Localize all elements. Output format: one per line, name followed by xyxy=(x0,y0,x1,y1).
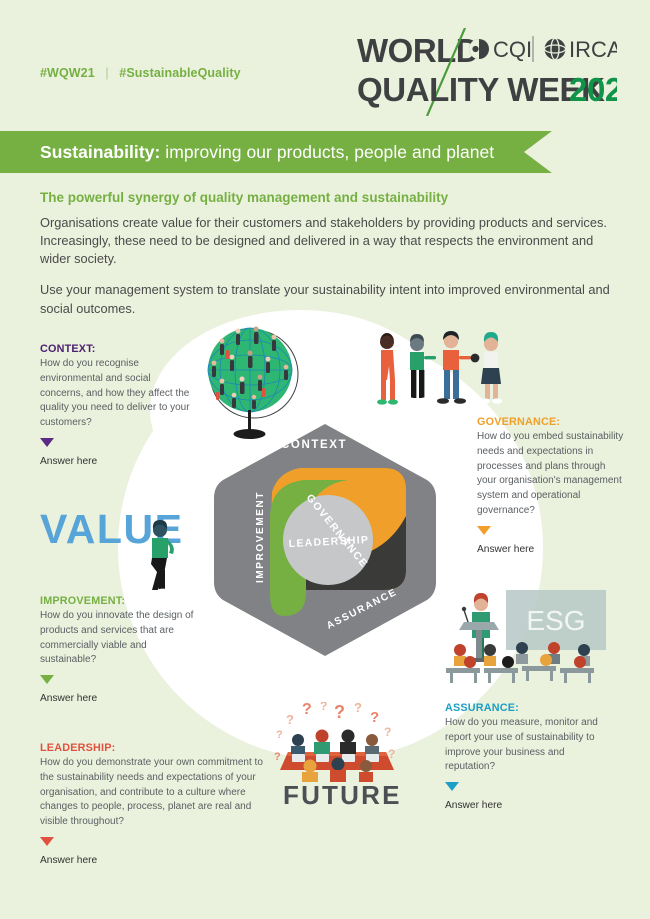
svg-text:?: ? xyxy=(286,712,294,727)
answer-field-governance[interactable]: Answer here xyxy=(477,544,627,555)
intro-paragraph-1: Organisations create value for their cus… xyxy=(40,214,612,268)
walking-people-illustration xyxy=(363,328,503,426)
logo-word-irca: IRCA xyxy=(569,37,617,62)
esg-presentation-illustration: ESG xyxy=(438,588,613,688)
intro-heading: The powerful synergy of quality manageme… xyxy=(40,190,612,205)
svg-text:?: ? xyxy=(320,702,327,713)
logo-word-cqi: CQI xyxy=(493,37,532,62)
meeting-questions-illustration: ? ? ? ? ? ? ? ? ? ? xyxy=(272,702,402,787)
hashtag-line: #WQW21 | #SustainableQuality xyxy=(40,66,241,80)
svg-text:?: ? xyxy=(334,702,345,722)
question-title-context: CONTEXT: xyxy=(40,343,192,355)
svg-text:?: ? xyxy=(274,751,281,763)
hashtag-wqw21[interactable]: #WQW21 xyxy=(40,66,95,80)
question-title-leadership: LEADERSHIP: xyxy=(40,742,272,754)
cqi-logo-icon xyxy=(469,39,489,59)
question-title-assurance: ASSURANCE: xyxy=(445,702,613,714)
question-text-assurance: How do you measure, monitor and report y… xyxy=(445,716,613,775)
question-title-governance: GOVERNANCE: xyxy=(477,416,627,428)
svg-text:?: ? xyxy=(388,747,395,761)
triangle-down-icon-context xyxy=(40,438,54,447)
wordmark-future: FUTURE xyxy=(283,780,402,811)
sustainability-hexagon-diagram: CONTEXT GOVERNANCE IMPROVEMENT ASSURANCE… xyxy=(208,420,442,660)
question-title-improvement: IMPROVEMENT: xyxy=(40,595,200,607)
hashtag-divider: | xyxy=(98,66,115,80)
irca-globe-icon xyxy=(545,39,566,60)
question-text-governance: How do you embed sustainability needs an… xyxy=(477,430,627,519)
logo-word-year: 2021 xyxy=(569,71,617,108)
svg-text:?: ? xyxy=(302,702,312,718)
question-block-assurance: ASSURANCE: How do you measure, monitor a… xyxy=(445,702,613,811)
svg-text:?: ? xyxy=(384,725,391,739)
logo-word-quality-week: QUALITY WEEK xyxy=(357,71,605,108)
answer-field-improvement[interactable]: Answer here xyxy=(40,693,200,704)
section-banner-text: Sustainability: improving our products, … xyxy=(0,142,494,163)
answer-field-context[interactable]: Answer here xyxy=(40,456,192,467)
logo-svg: WORLD CQI IRCA QUALITY WEEK 2021 xyxy=(357,28,617,116)
banner-title-rest: improving our products, people and plane… xyxy=(160,142,494,162)
question-block-improvement: IMPROVEMENT: How do you innovate the des… xyxy=(40,595,200,704)
world-quality-week-logo: WORLD CQI IRCA QUALITY WEEK 2021 xyxy=(357,28,617,116)
banner-title-bold: Sustainability: xyxy=(40,142,160,162)
question-text-context: How do you recognise environmental and s… xyxy=(40,357,192,431)
question-text-leadership: How do you demonstrate your own commitme… xyxy=(40,756,272,830)
triangle-down-icon-leadership xyxy=(40,837,54,846)
hashtag-sustainablequality[interactable]: #SustainableQuality xyxy=(119,66,240,80)
skateboarder-illustration xyxy=(128,518,188,598)
triangle-down-icon-governance xyxy=(477,526,491,535)
triangle-down-icon-assurance xyxy=(445,782,459,791)
section-banner: Sustainability: improving our products, … xyxy=(0,131,552,173)
diagram-stage: VALUE xyxy=(0,310,650,919)
svg-text:?: ? xyxy=(276,729,283,741)
question-text-improvement: How do you innovate the design of produc… xyxy=(40,609,200,668)
svg-text:?: ? xyxy=(370,709,379,726)
page-header: #WQW21 | #SustainableQuality WORLD CQI xyxy=(0,0,650,128)
answer-field-leadership[interactable]: Answer here xyxy=(40,855,272,866)
hex-label-context: CONTEXT xyxy=(281,439,347,451)
esg-screen-label: ESG xyxy=(526,605,585,636)
question-block-leadership: LEADERSHIP: How do you demonstrate your … xyxy=(40,742,272,866)
triangle-down-icon-improvement xyxy=(40,675,54,684)
svg-text:?: ? xyxy=(354,702,362,715)
question-block-governance: GOVERNANCE: How do you embed sustainabil… xyxy=(477,416,627,555)
hex-label-improvement: IMPROVEMENT xyxy=(255,491,266,583)
answer-field-assurance[interactable]: Answer here xyxy=(445,800,613,811)
question-block-context: CONTEXT: How do you recognise environmen… xyxy=(40,343,192,467)
